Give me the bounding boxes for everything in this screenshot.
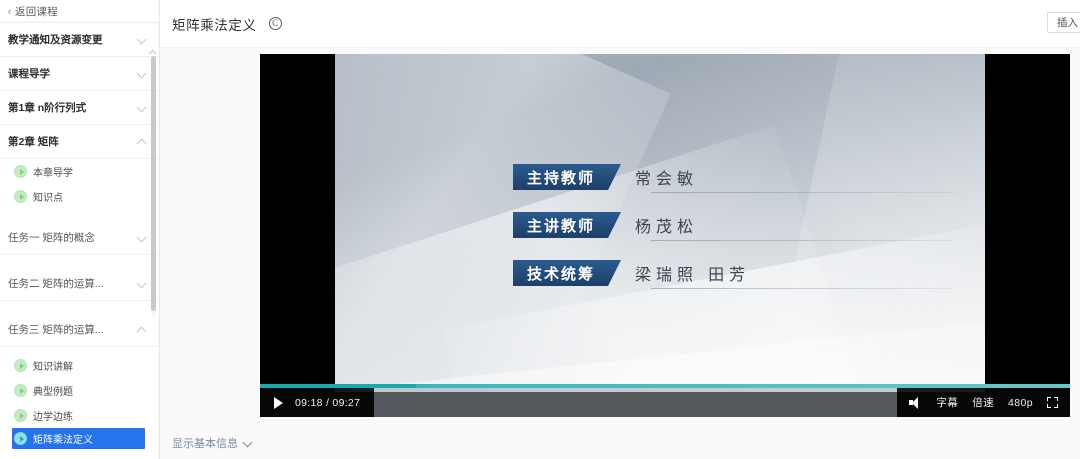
video-lesson-icon — [14, 432, 27, 445]
volume-icon[interactable] — [909, 397, 922, 409]
chevron-down-icon — [138, 103, 147, 112]
chevron-down-icon — [138, 35, 147, 44]
show-basic-info-toggle[interactable]: 显示基本信息 — [172, 435, 253, 451]
quality-button[interactable]: 480p — [1008, 397, 1033, 409]
chevron-up-icon — [138, 137, 147, 146]
light-beam-decoration — [335, 318, 985, 392]
sidebar-item-learn-practice[interactable]: 边学边练 — [0, 403, 159, 428]
video-controls-left: 09:18 / 09:27 — [260, 388, 374, 417]
sidebar-section-chapter1[interactable]: 第1章 n阶行列式 — [0, 91, 159, 125]
video-letterbox: 主持教师 常会敏 主讲教师 杨茂松 技术统筹 梁瑞照 田芳 — [260, 54, 1070, 417]
sidebar-section-label: 课程导学 — [8, 66, 50, 81]
sidebar-item-label: 本章导学 — [33, 164, 73, 179]
video-lesson-icon — [14, 384, 27, 397]
sidebar-item-knowledge-explain[interactable]: 知识讲解 — [0, 353, 159, 378]
sidebar-task-one[interactable]: 任务一 矩阵的概念 — [0, 221, 159, 255]
credit-row: 主持教师 常会敏 — [513, 160, 953, 194]
sidebar-section-notices[interactable]: 教学通知及资源变更 — [0, 23, 159, 57]
sidebar-scrollbar[interactable] — [151, 56, 156, 316]
sidebar-item-label: 边学边练 — [33, 408, 73, 423]
sidebar-task-label: 任务一 矩阵的概念 — [8, 230, 95, 245]
chevron-down-icon — [138, 69, 147, 78]
credit-role-label: 技术统筹 — [513, 260, 621, 286]
video-surface[interactable]: 主持教师 常会敏 主讲教师 杨茂松 技术统筹 梁瑞照 田芳 — [335, 54, 985, 392]
sidebar-item-typical-examples[interactable]: 典型例题 — [0, 378, 159, 403]
credit-person-name: 梁瑞照 田芳 — [635, 261, 750, 285]
copyright-icon: C — [269, 17, 282, 30]
video-controls-right: 字幕 倍速 480p — [897, 388, 1070, 417]
video-lesson-icon — [14, 190, 27, 203]
course-player-page: ‹ 返回课程 教学通知及资源变更 课程导学 第1章 n阶行列式 第2章 矩阵 — [0, 0, 1080, 459]
sidebar-section-label: 教学通知及资源变更 — [8, 32, 103, 47]
video-lesson-icon — [14, 359, 27, 372]
back-to-course-label: 返回课程 — [15, 4, 58, 19]
credit-row: 主讲教师 杨茂松 — [513, 208, 953, 242]
playback-speed-button[interactable]: 倍速 — [972, 395, 994, 410]
sidebar-item-label: 知识点 — [33, 189, 63, 204]
video-player[interactable]: 主持教师 常会敏 主讲教师 杨茂松 技术统筹 梁瑞照 田芳 — [260, 54, 1070, 417]
chevron-down-icon — [243, 438, 253, 448]
sidebar-item-chapter-guide[interactable]: 本章导学 — [0, 159, 159, 184]
sidebar-item-matrix-multiplication-definition[interactable]: 矩阵乘法定义 — [12, 428, 145, 449]
play-icon[interactable] — [274, 397, 283, 409]
credit-row: 技术统筹 梁瑞照 田芳 — [513, 256, 953, 290]
credit-underline — [651, 240, 953, 241]
sidebar-item-knowledge-points[interactable]: 知识点 — [0, 184, 159, 209]
scrollbar-up-arrow-icon[interactable] — [150, 49, 156, 55]
sidebar-section-label: 第2章 矩阵 — [8, 134, 59, 149]
sidebar-task-three[interactable]: 任务三 矩阵的运算... — [0, 313, 159, 347]
show-basic-info-label: 显示基本信息 — [172, 435, 238, 451]
video-lesson-icon — [14, 165, 27, 178]
video-time-display: 09:18 / 09:27 — [295, 397, 360, 409]
sidebar-scrollbar-thumb[interactable] — [151, 56, 156, 311]
course-sidebar: ‹ 返回课程 教学通知及资源变更 课程导学 第1章 n阶行列式 第2章 矩阵 — [0, 0, 160, 459]
fullscreen-icon[interactable] — [1047, 397, 1058, 408]
sidebar-scroll-area: 教学通知及资源变更 课程导学 第1章 n阶行列式 第2章 矩阵 本章导学 — [0, 23, 159, 459]
subtitle-button[interactable]: 字幕 — [936, 395, 958, 410]
page-title: 矩阵乘法定义 — [172, 14, 257, 34]
credit-person-name: 常会敏 — [635, 165, 698, 189]
sidebar-task-label: 任务三 矩阵的运算... — [8, 322, 104, 337]
chevron-up-icon — [138, 325, 147, 334]
credit-person-name: 杨茂松 — [635, 213, 698, 237]
credit-role-label: 主讲教师 — [513, 212, 621, 238]
main-content: 矩阵乘法定义 C 插入 主持教师 常会敏 — [160, 0, 1080, 459]
content-header: 矩阵乘法定义 C 插入 — [160, 0, 1080, 48]
sidebar-section-chapter2[interactable]: 第2章 矩阵 — [0, 125, 159, 159]
insert-button[interactable]: 插入 — [1047, 12, 1080, 33]
sidebar-item-label: 矩阵乘法定义 — [33, 431, 93, 446]
chevron-down-icon — [138, 233, 147, 242]
sidebar-item-label: 典型例题 — [33, 383, 73, 398]
chevron-down-icon — [138, 279, 147, 288]
sidebar-task-label: 任务二 矩阵的运算... — [8, 276, 104, 291]
controls-spacer — [374, 388, 897, 417]
back-to-course-link[interactable]: ‹ 返回课程 — [0, 0, 159, 23]
credit-underline — [651, 192, 953, 193]
sidebar-section-label: 第1章 n阶行列式 — [8, 100, 86, 115]
video-controls: 09:18 / 09:27 字幕 倍速 480p — [260, 388, 1070, 417]
sidebar-item-label: 知识讲解 — [33, 358, 73, 373]
credit-role-label: 主持教师 — [513, 164, 621, 190]
chevron-left-icon: ‹ — [8, 5, 11, 18]
video-credits: 主持教师 常会敏 主讲教师 杨茂松 技术统筹 梁瑞照 田芳 — [513, 160, 953, 304]
sidebar-task-two[interactable]: 任务二 矩阵的运算... — [0, 267, 159, 301]
credit-underline — [651, 288, 953, 289]
video-lesson-icon — [14, 409, 27, 422]
sidebar-item-matrix-multiplication-operation[interactable]: 矩阵乘法运... — [0, 453, 159, 459]
sidebar-section-guide[interactable]: 课程导学 — [0, 57, 159, 91]
